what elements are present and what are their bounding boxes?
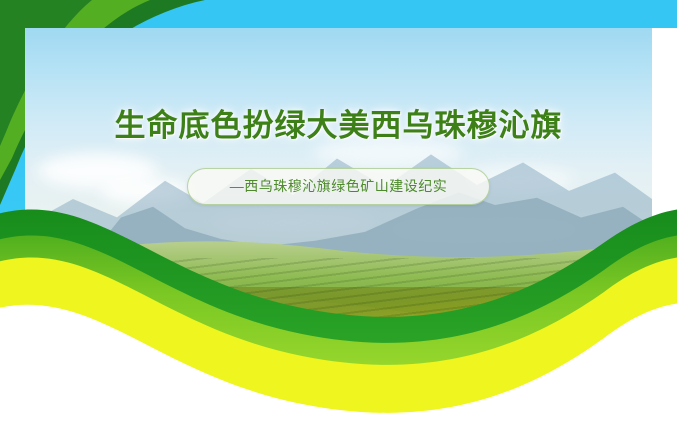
field-furrow-stripes — [25, 258, 652, 446]
banner-subtitle-pill: —西乌珠穆沁旗绿色矿山建设纪实 — [187, 168, 491, 205]
landscape-photo — [25, 28, 652, 446]
promotional-banner: 生命底色扮绿大美西乌珠穆沁旗 —西乌珠穆沁旗绿色矿山建设纪实 — [0, 0, 677, 446]
banner-title: 生命底色扮绿大美西乌珠穆沁旗 — [0, 100, 677, 145]
